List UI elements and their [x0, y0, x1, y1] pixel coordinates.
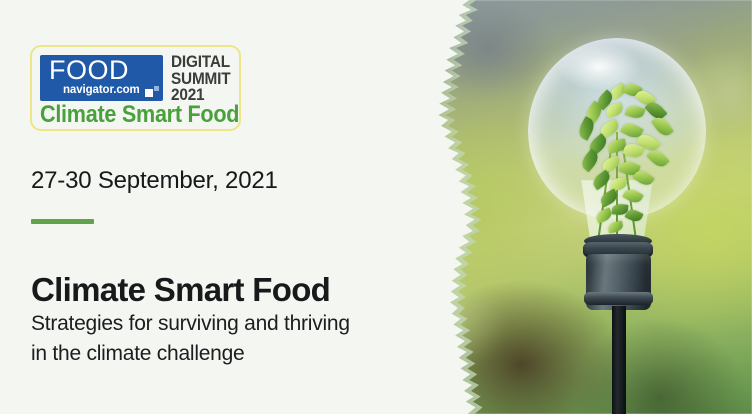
bulb-support-rod [612, 306, 626, 414]
lightbulb-graphic [528, 38, 706, 268]
logo-theme-text: Climate Smart Food [40, 102, 239, 128]
plant-leaf [607, 221, 624, 234]
digital-summit-line-2: SUMMIT [171, 71, 230, 88]
foodnavigator-domain: navigator.com [63, 84, 140, 96]
bulb-metal-base [586, 254, 651, 310]
plant-leaf [590, 170, 612, 191]
green-divider-rule [31, 219, 94, 224]
plant-leaf [595, 207, 614, 223]
event-subtitle-line-1: Strategies for surviving and thriving [31, 309, 431, 339]
logo-square-small-icon [154, 86, 159, 91]
event-subtitle: Strategies for surviving and thriving in… [31, 309, 431, 369]
plant-leaf [651, 114, 674, 139]
digital-summit-line-1: DIGITAL [171, 54, 230, 71]
digital-summit-lockup: DIGITAL SUMMIT 2021 [171, 54, 230, 104]
event-date: 27-30 September, 2021 [31, 167, 278, 195]
foodnavigator-logo-badge: FOOD navigator.com [40, 55, 163, 101]
foodnavigator-wordmark: FOOD [49, 56, 129, 85]
plant-leaf [625, 104, 646, 121]
page-title: Climate Smart Food [31, 271, 330, 309]
plant-inside-bulb [558, 80, 678, 250]
logo-square-icon [145, 89, 153, 97]
climate-smart-food-banner: FOOD navigator.com DIGITAL SUMMIT 2021 C… [0, 0, 752, 414]
lightbulb-plant-photo [422, 0, 752, 414]
food-navigator-digital-summit-logo[interactable]: FOOD navigator.com DIGITAL SUMMIT 2021 C… [30, 45, 241, 131]
plant-leaf [622, 186, 644, 205]
event-subtitle-line-2: in the climate challenge [31, 339, 431, 369]
banner-content: FOOD navigator.com DIGITAL SUMMIT 2021 C… [0, 0, 440, 414]
